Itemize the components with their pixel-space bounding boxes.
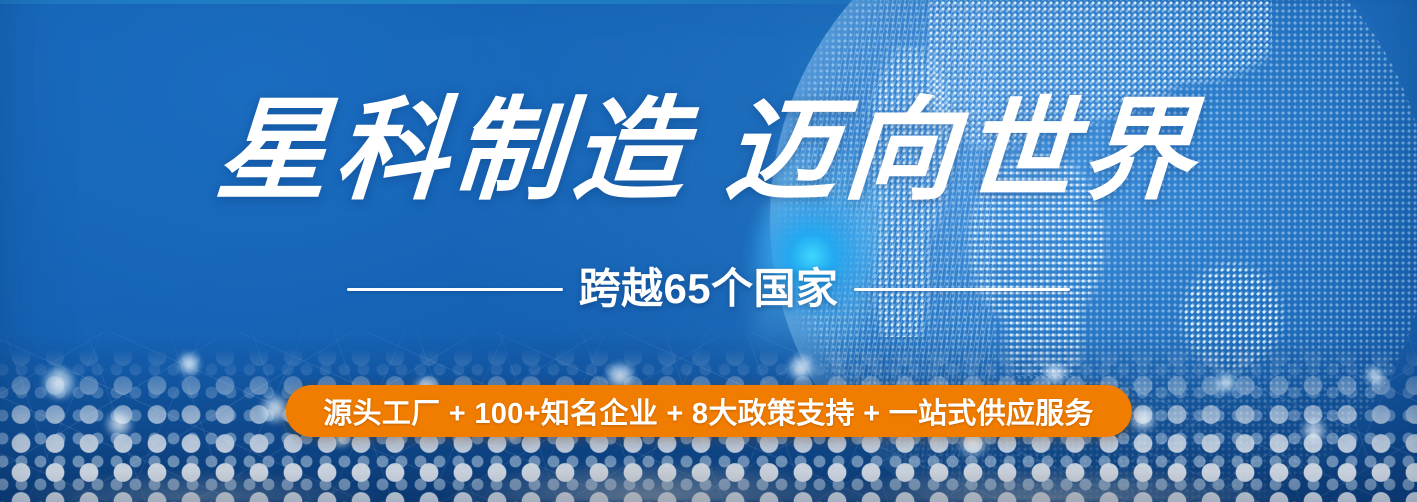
- banner-content: 星科制造迈向世界 跨越65个国家 源头工厂 + 100+知名企业 + 8大政策支…: [0, 0, 1417, 502]
- promo-banner: 星科制造迈向世界 跨越65个国家 源头工厂 + 100+知名企业 + 8大政策支…: [0, 0, 1417, 502]
- subtitle-rule-left: [347, 288, 563, 291]
- headline-part-1: 星科制造: [212, 90, 696, 214]
- headline: 星科制造迈向世界: [0, 96, 1417, 208]
- cta-pill[interactable]: 源头工厂 + 100+知名企业 + 8大政策支持 + 一站式供应服务: [285, 385, 1131, 437]
- subtitle-rule-right: [854, 288, 1070, 291]
- headline-part-2: 迈向世界: [721, 90, 1205, 214]
- subtitle: 跨越65个国家: [579, 268, 839, 310]
- subtitle-row: 跨越65个国家: [0, 268, 1417, 310]
